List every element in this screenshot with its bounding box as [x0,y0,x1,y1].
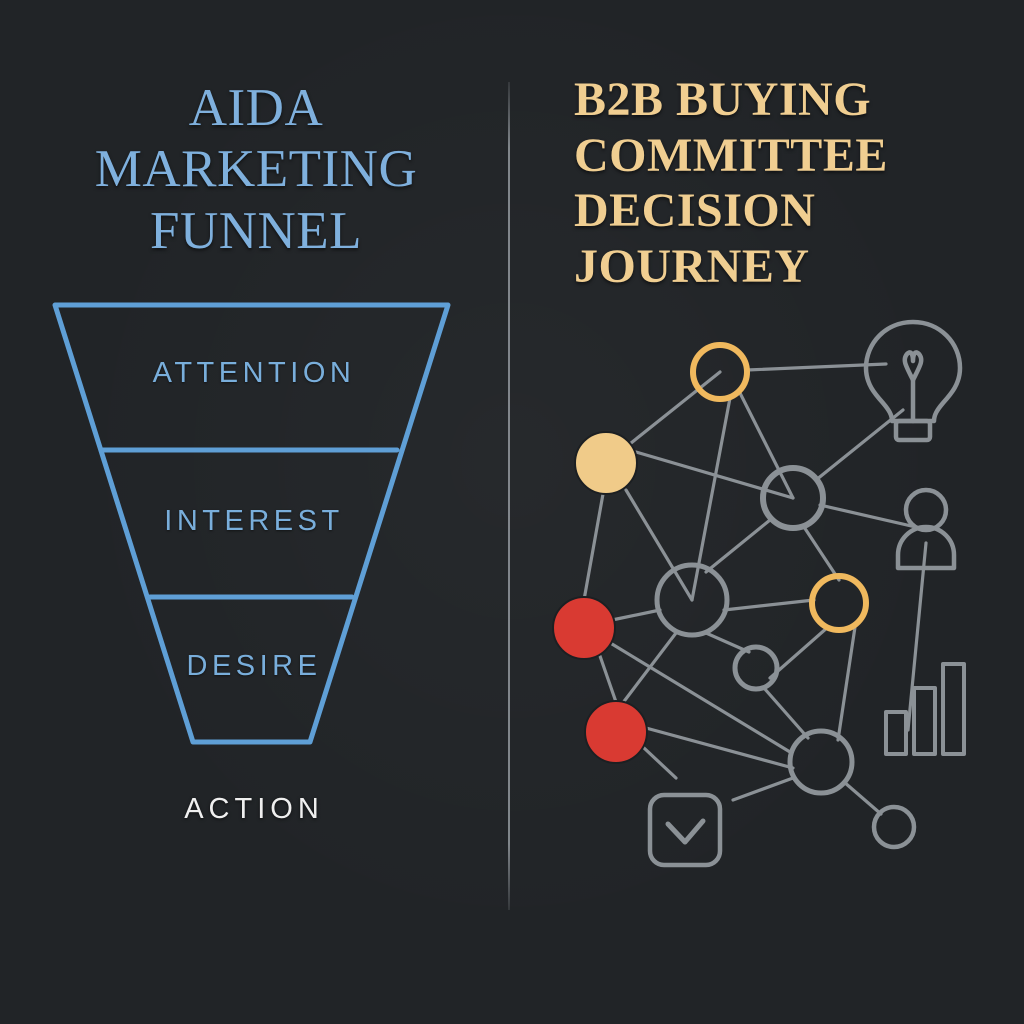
right-panel-title: B2B BUYING COMMITTEE DECISION JOURNEY [540,72,960,295]
node-gray-ring-tiny[interactable] [874,807,914,847]
left-panel-title: AIDA MARKETING FUNNEL [36,78,476,262]
node-gray-ring-lower[interactable] [790,731,852,793]
checkbox-icon[interactable] [650,795,720,865]
lightbulb-icon [866,322,960,440]
funnel-stage-label-attention: ATTENTION [0,357,508,390]
node-red-filled-lower[interactable] [585,701,647,763]
funnel-stage-label-desire: DESIRE [0,650,508,683]
node-gold-ring-right[interactable] [812,576,866,630]
node-gold-filled[interactable] [575,432,637,494]
node-gray-ring-small[interactable] [735,647,777,689]
aida-funnel: ATTENTION INTEREST DESIRE [0,280,508,780]
bar-chart-icon [886,664,964,754]
funnel-outcome-label-action: ACTION [0,793,508,826]
node-red-filled-upper[interactable] [553,597,615,659]
checkmark-glyph [668,821,703,842]
network-graph [508,300,1024,920]
buying-committee-network [508,300,1024,920]
funnel-stage-label-interest: INTEREST [0,505,508,538]
infographic-canvas: AIDA MARKETING FUNNEL ATTENTION INTEREST… [0,0,1024,1024]
checkbox-frame [650,795,720,865]
